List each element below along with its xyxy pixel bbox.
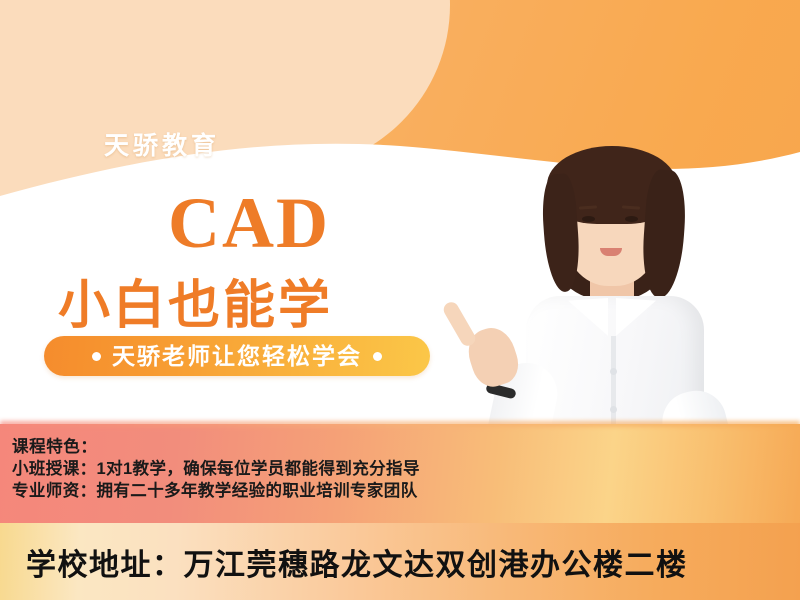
model-shirt-button	[610, 368, 617, 375]
features-text-block: 课程特色： 小班授课：1对1教学，确保每位学员都能得到充分指导 专业师资：拥有二…	[12, 436, 420, 502]
badge-dot-left-icon	[92, 352, 101, 361]
feature-line: 小班授课：1对1教学，确保每位学员都能得到充分指导	[12, 458, 420, 480]
features-heading: 课程特色：	[12, 436, 420, 458]
feature-line: 专业师资：拥有二十多年教学经验的职业培训专家团队	[12, 480, 420, 502]
school-address: 学校地址：万江莞穗路龙文达双创港办公楼二楼	[0, 523, 800, 600]
page-title: CAD	[168, 188, 330, 259]
brand-name: 天骄教育	[104, 126, 220, 162]
badge-dot-right-icon	[373, 352, 382, 361]
model-shirt-button	[610, 406, 617, 413]
page-subtitle: 小白也能学	[58, 263, 333, 338]
features-band-top-edge	[0, 421, 800, 427]
model-eye-left	[582, 216, 595, 222]
tagline-badge-label: 天骄老师让您轻松学会	[112, 345, 362, 368]
model-eye-right	[625, 216, 638, 222]
tagline-badge: 天骄老师让您轻松学会	[44, 336, 430, 376]
poster-canvas: 天骄教育 CAD 小白也能学 天骄老师让您轻松学会 课程特色： 小班授课：1对1…	[0, 0, 800, 600]
model-index-finger	[441, 299, 478, 348]
